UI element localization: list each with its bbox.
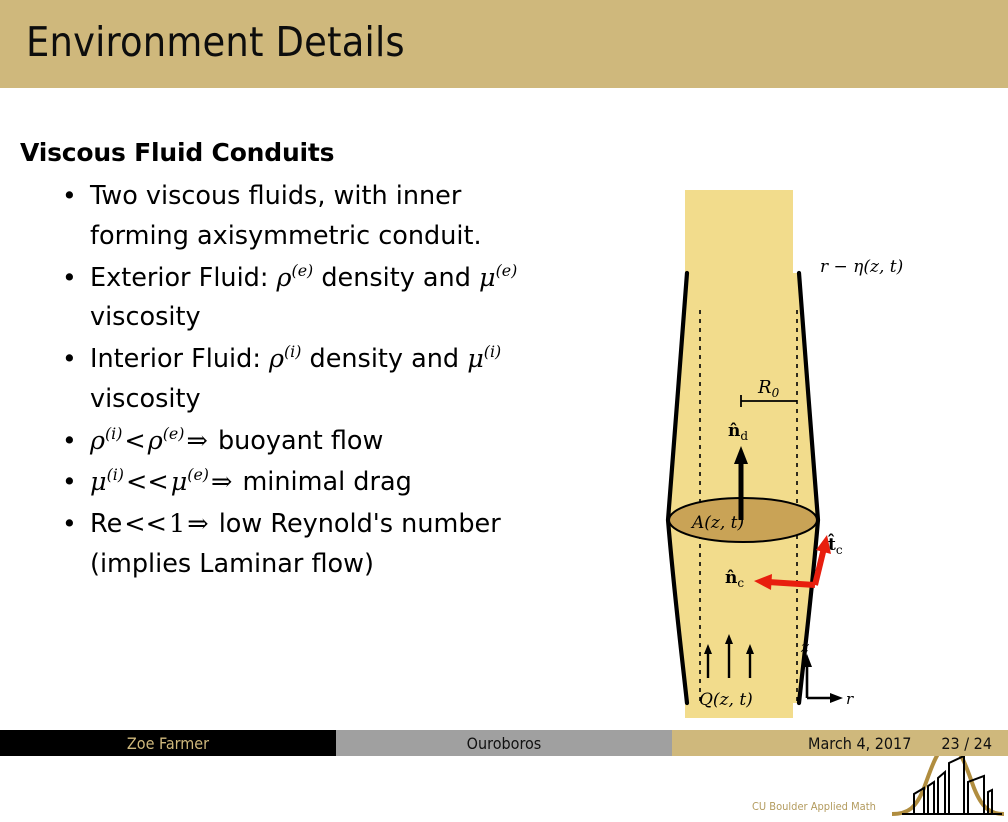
symbol-rho: ρ xyxy=(277,263,292,293)
label-R0-text: R xyxy=(757,377,772,398)
bullet-text: minimal drag xyxy=(242,467,411,497)
superscript-i: (i) xyxy=(107,466,124,485)
superscript-e: (e) xyxy=(496,261,518,280)
footer-date: March 4, 2017 xyxy=(808,734,911,753)
bullet-text: buoyant flow xyxy=(218,426,383,456)
list-item: Two viscous fluids, with inner forming a… xyxy=(56,177,550,257)
normal-vector-shaft xyxy=(768,582,815,585)
label-n-hat-d-sub: d xyxy=(740,429,748,443)
implies-arrow: ⇒ xyxy=(209,467,234,497)
implies-arrow: ⇒ xyxy=(184,426,209,456)
page-title: Environment Details xyxy=(26,18,405,66)
label-n-hat-c-text: n̂ xyxy=(725,568,737,588)
bullet-text: density and xyxy=(301,344,467,374)
symbol-rho: ρ xyxy=(148,426,163,456)
symbol-mu: μ xyxy=(479,263,496,293)
superscript-e: (e) xyxy=(292,261,314,280)
list-item: Interior Fluid: ρ(i) density and μ(i) vi… xyxy=(56,340,550,420)
symbol-mu: μ xyxy=(90,467,107,497)
implies-arrow: ⇒ xyxy=(185,509,210,539)
symbol-reynolds: Re xyxy=(90,509,122,539)
footer-author: Zoe Farmer xyxy=(0,730,336,756)
label-axis-z-text: z xyxy=(800,638,809,656)
operator-less-than: < xyxy=(122,426,147,456)
label-flux-Q: Q(z, t) xyxy=(699,690,753,710)
footer-page-number: 23 / 24 xyxy=(941,734,992,753)
label-R0-sub: 0 xyxy=(772,386,780,400)
symbol-mu: μ xyxy=(467,344,484,374)
superscript-i: (i) xyxy=(484,342,501,361)
block-heading: Viscous Fluid Conduits xyxy=(20,138,550,167)
label-n-hat-c-sub: c xyxy=(737,576,744,590)
slide-footer: Zoe Farmer Ouroboros March 4, 2017 23 / … xyxy=(0,730,1008,756)
bullet-text: viscosity xyxy=(90,302,201,332)
bullet-text: viscosity xyxy=(90,384,201,414)
footer-presentation-title: Ouroboros xyxy=(336,730,672,756)
label-axis-r: r xyxy=(846,690,854,708)
list-item: Re<<1⇒ low Reynold's number (implies Lam… xyxy=(56,505,550,585)
label-eta-text: r − η(z, t) xyxy=(820,257,903,277)
label-area-text: A(z, t) xyxy=(690,513,744,533)
label-interface-eta: r − η(z, t) xyxy=(820,257,903,277)
label-area: A(z, t) xyxy=(690,513,744,533)
buildings-icon xyxy=(902,756,1002,814)
label-n-hat-d-text: n̂ xyxy=(728,421,740,441)
label-axis-r-text: r xyxy=(846,690,854,708)
label-axis-z: z xyxy=(800,638,809,656)
label-t-hat-c-sub: c xyxy=(836,543,843,557)
axis-r-head xyxy=(830,693,843,703)
superscript-e: (e) xyxy=(187,466,209,485)
footer-right: March 4, 2017 23 / 24 xyxy=(672,730,1008,756)
superscript-i: (i) xyxy=(105,424,122,443)
superscript-i: (i) xyxy=(284,342,301,361)
bullet-list: Two viscous fluids, with inner forming a… xyxy=(20,177,550,585)
list-item: μ(i)<<μ(e)⇒ minimal drag xyxy=(56,463,550,503)
conduit-diagram: r − η(z, t) R0 n̂d A(z, t) t̂c n̂c Q(z, … xyxy=(648,158,1008,718)
slide-content: Viscous Fluid Conduits Two viscous fluid… xyxy=(0,88,1008,728)
operator-much-less-than: << xyxy=(122,509,169,539)
label-flux-text: Q(z, t) xyxy=(699,690,753,710)
symbol-rho: ρ xyxy=(269,344,284,374)
list-item: ρ(i)<ρ(e)⇒ buoyant flow xyxy=(56,422,550,462)
label-t-hat-c-text: t̂ xyxy=(827,534,836,555)
logo-caption: CU Boulder Applied Math xyxy=(752,800,876,813)
text-column: Viscous Fluid Conduits Two viscous fluid… xyxy=(20,138,550,587)
slide-title-bar: Environment Details xyxy=(0,0,1008,88)
symbol-mu: μ xyxy=(171,467,188,497)
bullet-text: Two viscous fluids, with inner forming a… xyxy=(90,181,482,251)
bullet-text: density and xyxy=(313,263,479,293)
number-one: 1 xyxy=(169,509,185,539)
bullet-text: Exterior Fluid: xyxy=(90,263,277,293)
list-item: Exterior Fluid: ρ(e) density and μ(e) vi… xyxy=(56,259,550,339)
operator-much-less-than: << xyxy=(124,467,171,497)
symbol-rho: ρ xyxy=(90,426,105,456)
bullet-text: Interior Fluid: xyxy=(90,344,269,374)
label-t-hat-c: t̂c xyxy=(827,534,842,557)
superscript-e: (e) xyxy=(163,424,185,443)
